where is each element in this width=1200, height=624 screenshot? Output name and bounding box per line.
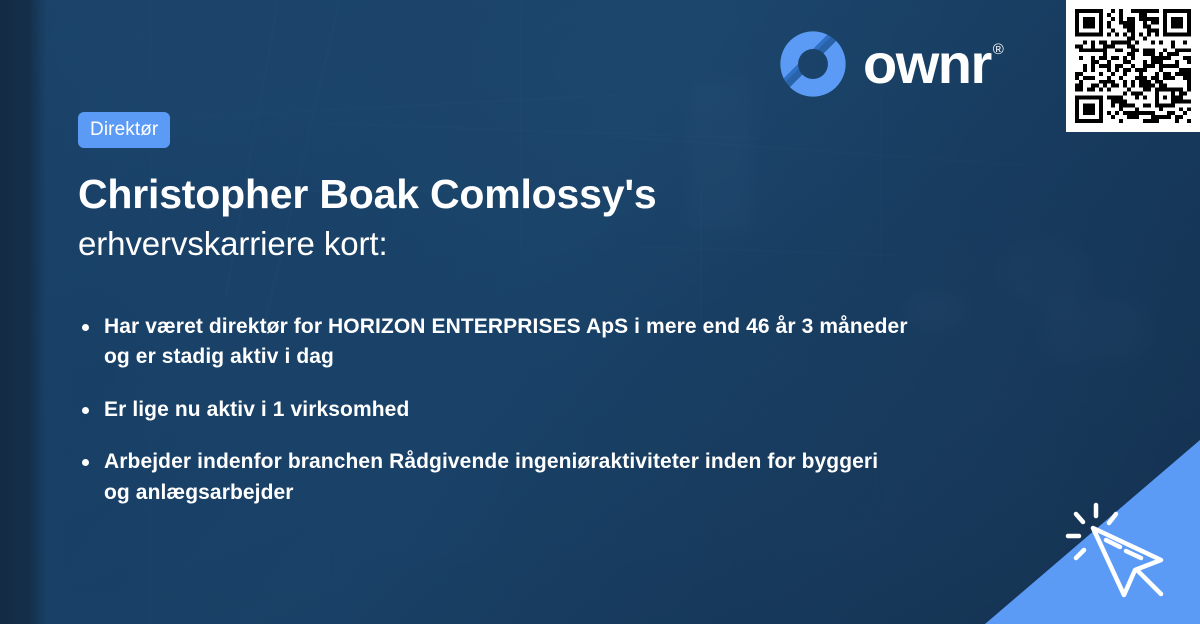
facts-list: Har været direktør for HORIZON ENTERPRIS… (78, 312, 908, 508)
bullet-icon (82, 459, 89, 466)
page-subtitle: erhvervskarriere kort: (78, 224, 940, 264)
page-title: Christopher Boak Comlossy's (78, 172, 940, 218)
headline-block: Direktør Christopher Boak Comlossy's erh… (78, 112, 940, 264)
list-item-text: Har været direktør for HORIZON ENTERPRIS… (104, 315, 908, 368)
registered-trademark-icon: ® (993, 42, 1003, 57)
business-card: ownr ® Direktør Christopher Boak Comloss… (0, 0, 1200, 624)
ownr-wordmark-text: ownr (863, 36, 991, 92)
qr-code[interactable] (1075, 9, 1191, 123)
ownr-wordmark: ownr ® (863, 36, 1002, 92)
click-cursor-icon (1062, 498, 1182, 606)
qr-code-panel[interactable] (1066, 0, 1200, 132)
list-item: Har været direktør for HORIZON ENTERPRIS… (78, 312, 908, 373)
bullet-icon (82, 407, 89, 414)
list-item-text: Arbejder indenfor branchen Rådgivende in… (104, 450, 878, 503)
ownr-logo: ownr ® (779, 30, 1002, 98)
list-item: Arbejder indenfor branchen Rådgivende in… (78, 447, 908, 508)
bullet-icon (82, 324, 89, 331)
ownr-circle-mark (779, 30, 847, 98)
list-item-text: Er lige nu aktiv i 1 virksomhed (104, 398, 409, 421)
list-item: Er lige nu aktiv i 1 virksomhed (78, 395, 908, 425)
role-badge: Direktør (78, 112, 170, 148)
background-left-strip (0, 0, 47, 624)
